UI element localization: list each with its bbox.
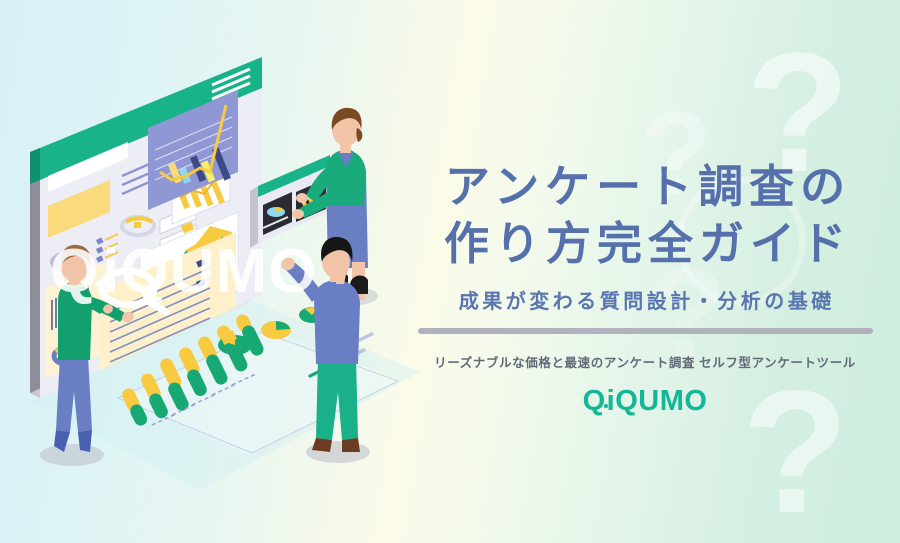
headline-line-2: 作り方完全ガイド <box>400 215 890 272</box>
hero-banner: ? ? ? ? <box>0 0 900 543</box>
qiqumo-logo: QiQUMO <box>400 385 890 418</box>
logo-q: Q <box>583 385 606 417</box>
logo-rest: iQUMO <box>607 385 708 417</box>
headline-line-1: アンケート調査の <box>400 158 890 215</box>
qiqumo-watermark: QiQUMO <box>50 236 317 307</box>
divider <box>418 328 873 334</box>
hero-text-block: アンケート調査の 作り方完全ガイド 成果が変わる質問設計・分析の基礎 リーズナブ… <box>400 158 890 418</box>
tagline: リーズナブルな価格と最速のアンケート調査 セルフ型アンケートツール <box>400 352 890 371</box>
page-subtitle: 成果が変わる質問設計・分析の基礎 <box>400 285 890 314</box>
watermark-rest: iQUMO <box>102 237 317 306</box>
page-title: アンケート調査の 作り方完全ガイド <box>400 158 890 272</box>
watermark-q: Q <box>50 237 99 306</box>
